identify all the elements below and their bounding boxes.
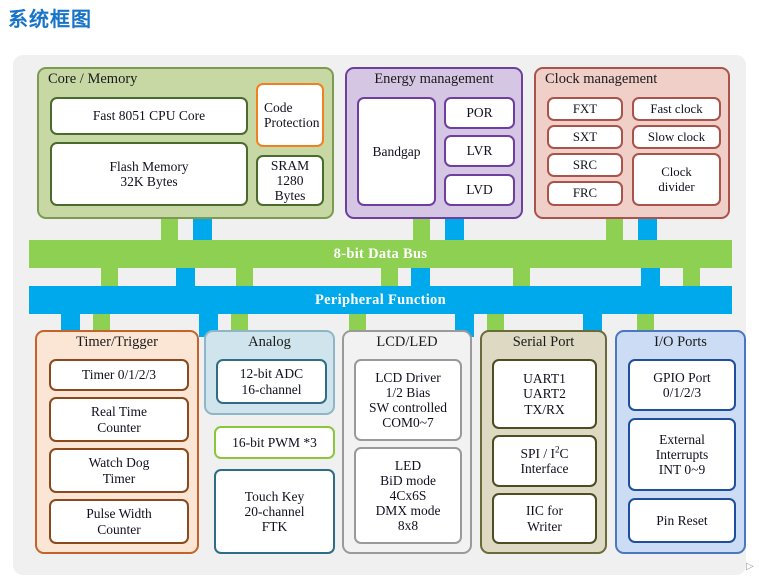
connector-mid-green-1 bbox=[101, 268, 118, 286]
block-touch-key-label: Touch Key 20-channel FTK bbox=[245, 489, 305, 534]
group-title-energy-management: Energy management bbox=[347, 69, 521, 90]
group-timer-trigger: Timer/Trigger Timer 0/1/2/3 Real Time Co… bbox=[35, 330, 199, 554]
block-pulse-width-counter-label: Pulse Width Counter bbox=[86, 506, 152, 536]
group-core-memory: Core / Memory Fast 8051 CPU Core Code Pr… bbox=[37, 67, 334, 219]
connector-energy-blue bbox=[445, 218, 464, 240]
group-title-analog: Analog bbox=[206, 332, 333, 353]
connector-core-green bbox=[161, 218, 178, 240]
block-external-interrupts-label: External Interrupts INT 0~9 bbox=[656, 432, 708, 477]
group-title-clock-management: Clock management bbox=[536, 69, 728, 90]
connector-mid-green-5 bbox=[683, 268, 700, 286]
block-bandgap[interactable]: Bandgap bbox=[357, 97, 436, 206]
block-pin-reset[interactable]: Pin Reset bbox=[628, 498, 736, 543]
block-real-time-counter[interactable]: Real Time Counter bbox=[49, 397, 189, 442]
block-external-interrupts[interactable]: External Interrupts INT 0~9 bbox=[628, 418, 736, 491]
block-12bit-adc-label: 12-bit ADC 16-channel bbox=[240, 366, 303, 396]
block-lcd-driver[interactable]: LCD Driver 1/2 Bias SW controlled COM0~7 bbox=[354, 359, 462, 441]
page-title: 系统框图 bbox=[8, 3, 92, 32]
block-lcd-driver-label: LCD Driver 1/2 Bias SW controlled COM0~7 bbox=[369, 370, 447, 430]
scroll-chevron-icon[interactable]: ▷ bbox=[746, 562, 755, 571]
block-timer-0123[interactable]: Timer 0/1/2/3 bbox=[49, 359, 189, 391]
block-lvd[interactable]: LVD bbox=[444, 174, 515, 206]
block-sxt[interactable]: SXT bbox=[547, 125, 623, 149]
connector-mid-blue-2 bbox=[411, 268, 430, 286]
block-iic-for-writer[interactable]: IIC for Writer bbox=[492, 493, 597, 544]
group-clock-management: Clock management FXT Fast clock SXT Slow… bbox=[534, 67, 730, 219]
block-uart[interactable]: UART1 UART2 TX/RX bbox=[492, 359, 597, 429]
block-flash-memory-label: Flash Memory 32K Bytes bbox=[109, 159, 188, 189]
block-16bit-pwm[interactable]: 16-bit PWM *3 bbox=[214, 426, 335, 459]
block-src[interactable]: SRC bbox=[547, 153, 623, 177]
block-touch-key[interactable]: Touch Key 20-channel FTK bbox=[214, 469, 335, 554]
block-spi-i2c-interface-label: SPI / I2CInterface bbox=[520, 446, 568, 476]
block-clock-divider-label: Clock divider bbox=[658, 165, 694, 194]
connector-clock-green bbox=[606, 218, 623, 240]
block-code-protection[interactable]: Code Protection bbox=[256, 83, 324, 147]
block-fxt[interactable]: FXT bbox=[547, 97, 623, 121]
block-pulse-width-counter[interactable]: Pulse Width Counter bbox=[49, 499, 189, 544]
block-code-protection-label: Code Protection bbox=[264, 100, 320, 130]
connector-energy-green bbox=[413, 218, 430, 240]
block-sram[interactable]: SRAM 1280 Bytes bbox=[256, 155, 324, 206]
block-sram-label: SRAM 1280 Bytes bbox=[260, 158, 320, 203]
block-frc[interactable]: FRC bbox=[547, 181, 623, 206]
block-led[interactable]: LED BiD mode 4Cx6S DMX mode 8x8 bbox=[354, 447, 462, 544]
connector-mid-green-2 bbox=[236, 268, 253, 286]
block-gpio-port[interactable]: GPIO Port 0/1/2/3 bbox=[628, 359, 736, 411]
block-watch-dog-timer-label: Watch Dog Timer bbox=[89, 455, 150, 485]
bus-peripheral-function-label: Peripheral Function bbox=[315, 292, 446, 309]
block-watch-dog-timer[interactable]: Watch Dog Timer bbox=[49, 448, 189, 493]
connector-mid-blue-3 bbox=[641, 268, 660, 286]
group-title-lcd-led: LCD/LED bbox=[344, 332, 470, 353]
block-flash-memory[interactable]: Flash Memory 32K Bytes bbox=[50, 142, 248, 206]
block-led-label: LED BiD mode 4Cx6S DMX mode 8x8 bbox=[376, 458, 441, 534]
connector-mid-blue-1 bbox=[176, 268, 195, 286]
block-fast-8051-cpu-core[interactable]: Fast 8051 CPU Core bbox=[50, 97, 248, 135]
block-slow-clock[interactable]: Slow clock bbox=[632, 125, 721, 149]
block-12bit-adc[interactable]: 12-bit ADC 16-channel bbox=[216, 359, 327, 404]
diagram-canvas: Core / Memory Fast 8051 CPU Core Code Pr… bbox=[13, 55, 746, 575]
bus-data: 8-bit Data Bus bbox=[29, 240, 732, 268]
connector-core-blue bbox=[193, 218, 212, 240]
block-fast-clock[interactable]: Fast clock bbox=[632, 97, 721, 121]
block-lvr[interactable]: LVR bbox=[444, 135, 515, 167]
bus-data-label: 8-bit Data Bus bbox=[334, 246, 428, 263]
bus-peripheral-function: Peripheral Function bbox=[29, 286, 732, 314]
group-serial-port: Serial Port UART1 UART2 TX/RX SPI / I2CI… bbox=[480, 330, 607, 554]
group-analog: Analog 12-bit ADC 16-channel bbox=[204, 330, 335, 415]
group-title-serial-port: Serial Port bbox=[482, 332, 605, 353]
group-energy-management: Energy management Bandgap POR LVR LVD bbox=[345, 67, 523, 219]
block-uart-label: UART1 UART2 TX/RX bbox=[523, 371, 566, 416]
group-title-timer-trigger: Timer/Trigger bbox=[37, 332, 197, 353]
group-title-io-ports: I/O Ports bbox=[617, 332, 744, 353]
connector-mid-green-3 bbox=[381, 268, 398, 286]
group-lcd-led: LCD/LED LCD Driver 1/2 Bias SW controlle… bbox=[342, 330, 472, 554]
group-io-ports: I/O Ports GPIO Port 0/1/2/3 External Int… bbox=[615, 330, 746, 554]
block-iic-for-writer-label: IIC for Writer bbox=[526, 503, 563, 533]
connector-mid-green-4 bbox=[513, 268, 530, 286]
block-por[interactable]: POR bbox=[444, 97, 515, 129]
block-real-time-counter-label: Real Time Counter bbox=[91, 404, 147, 434]
block-spi-i2c-interface[interactable]: SPI / I2CInterface bbox=[492, 435, 597, 487]
block-clock-divider[interactable]: Clock divider bbox=[632, 153, 721, 206]
block-gpio-port-label: GPIO Port 0/1/2/3 bbox=[653, 370, 710, 400]
system-block-diagram-page: 系统框图 Core / Memory Fast 8051 CPU Core Co… bbox=[0, 0, 759, 584]
connector-clock-blue bbox=[638, 218, 657, 240]
